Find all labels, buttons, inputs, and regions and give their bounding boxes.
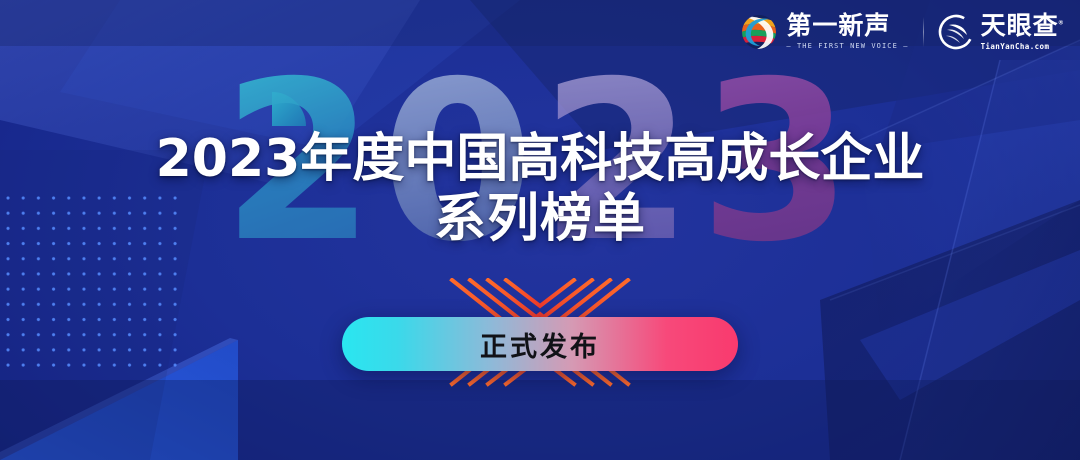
logo-tianyancha-en: TianYanCha.com <box>981 43 1064 51</box>
logo-diyixinsheng-text: 第一新声 — THE FIRST NEW VOICE — <box>786 14 908 50</box>
promo-banner: 2023 <box>0 0 1080 460</box>
logo-tianyancha-cn: 天眼查® <box>981 14 1064 39</box>
trademark-symbol: ® <box>1059 20 1064 26</box>
logo-diyixinsheng-en: — THE FIRST NEW VOICE — <box>786 43 908 50</box>
headline-line-2: 系列榜单 <box>0 191 1080 248</box>
logo-tianyancha[interactable]: 天眼查® TianYanCha.com <box>938 14 1064 51</box>
logo-tianyancha-text: 天眼查® TianYanCha.com <box>981 14 1064 51</box>
headline: 2023年度中国高科技高成长企业 系列榜单 <box>0 132 1080 248</box>
headline-line-1: 2023年度中国高科技高成长企业 <box>0 132 1080 187</box>
logo-diyixinsheng[interactable]: 第一新声 — THE FIRST NEW VOICE — <box>739 13 908 51</box>
logo-diyixinsheng-cn: 第一新声 <box>786 14 908 39</box>
swirl-globe-icon <box>739 13 779 51</box>
logo-divider <box>923 17 924 47</box>
publish-cta-label: 正式发布 <box>480 325 600 364</box>
logo-bar: 第一新声 — THE FIRST NEW VOICE — 天眼查® TianYa… <box>739 13 1064 51</box>
eye-aperture-icon <box>938 14 974 50</box>
publish-cta-button[interactable]: 正式发布 <box>342 317 738 371</box>
